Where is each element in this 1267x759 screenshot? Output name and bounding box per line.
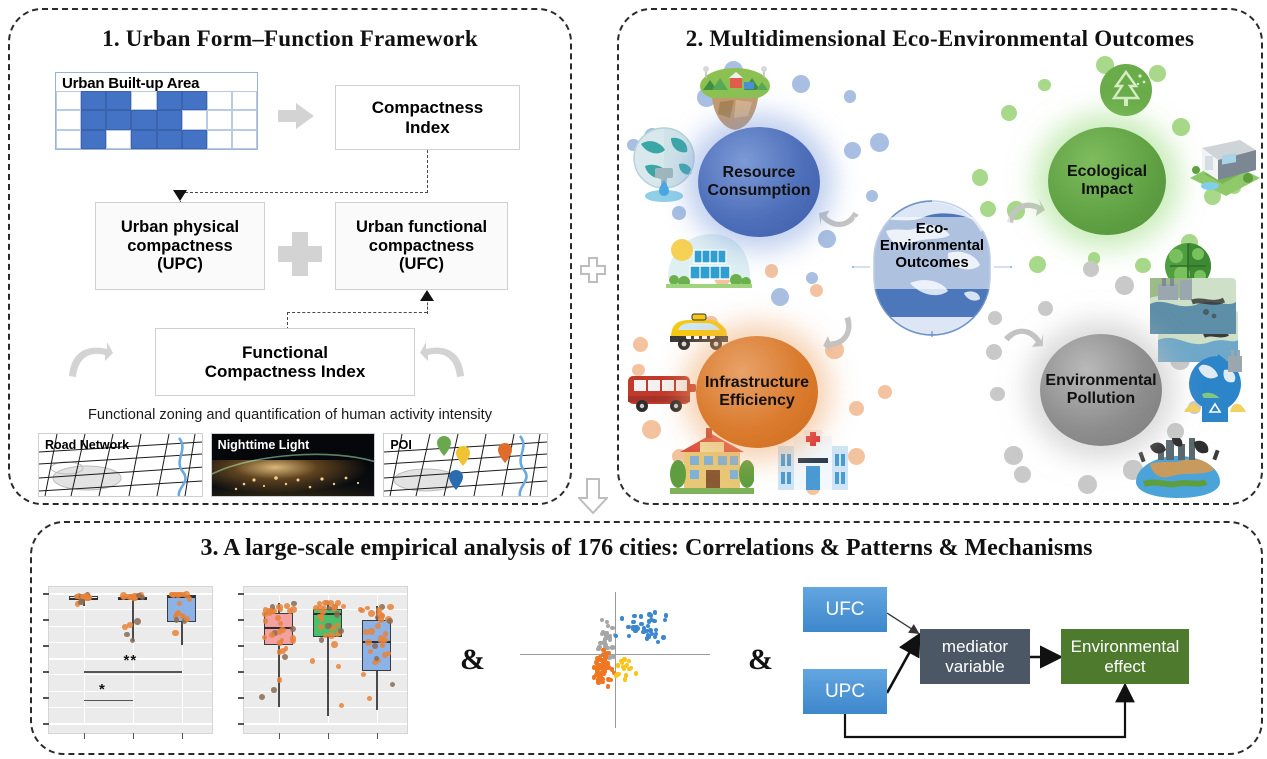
data-point	[327, 623, 332, 628]
bubble-inf-line1: Infrastructure	[705, 374, 809, 391]
data-point	[327, 606, 332, 611]
scatter-point	[639, 614, 643, 618]
data-point	[368, 628, 374, 634]
data-point	[259, 694, 265, 700]
scatter-point	[596, 647, 600, 651]
center-globe-icon: Eco- Environmental Outcomes	[852, 197, 1012, 337]
data-point	[269, 632, 275, 638]
separator-amp-2: &	[748, 643, 773, 677]
center-line2: Environmental	[880, 237, 984, 254]
scatter-point	[610, 626, 614, 630]
bubble-eco-line2: Impact	[1081, 181, 1133, 198]
mediation-node-ufc: UFC	[803, 587, 887, 632]
separator-amp-1: &	[460, 643, 485, 677]
data-point	[268, 608, 274, 614]
axis-tick	[238, 671, 244, 673]
scatter-point	[629, 666, 633, 670]
data-point	[178, 592, 183, 597]
axis-tick	[43, 723, 49, 725]
data-point	[124, 632, 129, 637]
axis-tick	[238, 697, 244, 699]
gridline	[244, 593, 407, 595]
bubble-resource-consumption: Resource Consumption	[698, 127, 820, 237]
data-point	[368, 610, 375, 617]
gridline	[244, 723, 407, 725]
mediation-node-upc: UPC	[803, 669, 887, 714]
gridline	[244, 691, 407, 693]
scatter-point	[603, 656, 607, 660]
data-point	[331, 641, 337, 647]
scatter-point	[614, 634, 618, 638]
data-point	[74, 594, 79, 599]
data-point	[390, 682, 395, 687]
thumbnail-nighttime-light-label: Nighttime Light	[218, 438, 310, 452]
axis-tick-x	[182, 733, 184, 739]
scatter-point	[653, 635, 657, 639]
data-point	[271, 687, 276, 692]
axis-tick	[43, 645, 49, 647]
significance-bracket	[84, 700, 133, 702]
scatter-point	[647, 612, 651, 616]
bubble-environmental-pollution: Environmental Pollution	[1040, 334, 1162, 446]
mediation-node-environmental-effect: Environmental effect	[1061, 629, 1189, 684]
data-point	[134, 618, 141, 625]
data-point	[290, 606, 297, 613]
axis-tick	[43, 697, 49, 699]
gridline	[244, 674, 407, 675]
bubble-ecological-impact: Ecological Impact	[1048, 127, 1166, 235]
axis-tick-x	[84, 733, 86, 739]
scatter-point	[610, 645, 614, 649]
data-point	[365, 606, 370, 611]
data-point	[328, 632, 335, 639]
data-point	[172, 630, 178, 636]
data-point	[387, 604, 393, 610]
scatter-point	[620, 616, 624, 620]
data-point	[140, 595, 145, 600]
mediation-node-mediator: mediator variable	[920, 629, 1030, 684]
data-point	[387, 618, 393, 624]
effect-line2: effect	[1104, 657, 1145, 676]
scatter-point	[611, 654, 615, 658]
scatter-point	[646, 624, 650, 628]
center-line1: Eco-	[916, 220, 949, 237]
center-globe-label: Eco- Environmental Outcomes	[852, 221, 1012, 271]
chart-boxplot-significance: ***	[48, 586, 213, 734]
data-point	[367, 696, 372, 701]
scatter-point	[663, 618, 667, 622]
data-point	[383, 631, 388, 636]
chart-quadrant-scatter	[520, 586, 710, 734]
axis-tick	[43, 593, 49, 595]
scatter-point	[602, 640, 606, 644]
data-point	[310, 658, 315, 663]
data-point	[319, 637, 325, 643]
significance-label: *	[99, 681, 106, 698]
data-point	[177, 601, 182, 606]
significance-bracket	[84, 671, 182, 673]
gridline	[49, 707, 212, 708]
bubble-pol-line1: Environmental	[1045, 372, 1156, 389]
data-point	[358, 607, 363, 612]
data-point	[174, 617, 179, 622]
data-point	[129, 594, 134, 599]
effect-line1: Environmental	[1071, 637, 1180, 656]
scatter-point	[661, 635, 665, 639]
scatter-point	[653, 610, 657, 614]
scatter-point	[616, 663, 620, 667]
scatter-point	[634, 671, 638, 675]
scatter-point	[627, 634, 631, 638]
bubble-res-line2: Consumption	[707, 182, 810, 199]
scatter-point	[649, 618, 653, 622]
scatter-point	[632, 614, 636, 618]
axis-tick	[238, 619, 244, 621]
data-point	[277, 677, 282, 682]
data-point	[277, 640, 283, 646]
axis-tick-x	[328, 733, 330, 739]
scatter-point	[664, 613, 668, 617]
scatter-point	[606, 677, 610, 681]
bubble-inf-line2: Efficiency	[719, 392, 795, 409]
axis-tick	[43, 619, 49, 621]
scatter-point	[608, 637, 612, 641]
data-point	[284, 646, 289, 651]
scatter-point	[624, 673, 628, 677]
data-point	[263, 618, 268, 623]
axis-vertical	[615, 592, 616, 728]
gridline	[49, 691, 212, 693]
axis-tick	[238, 593, 244, 595]
scatter-point	[600, 618, 604, 622]
chart-boxplot-three-groups	[243, 586, 408, 734]
axis-tick	[238, 723, 244, 725]
gridline	[49, 723, 212, 725]
scatter-point	[623, 677, 627, 681]
gridline-vertical	[84, 593, 85, 723]
scatter-point	[631, 620, 635, 624]
scatter-point	[615, 672, 619, 676]
data-point	[78, 599, 84, 605]
scatter-point	[603, 631, 607, 635]
axis-tick-x	[279, 733, 281, 739]
data-point	[335, 600, 341, 606]
scatter-point	[604, 664, 608, 668]
axis-tick	[238, 645, 244, 647]
thumbnail-road-network-label: Road Network	[45, 438, 129, 452]
axis-tick	[43, 671, 49, 673]
data-point	[338, 628, 344, 634]
scatter-point	[656, 640, 660, 644]
data-point	[328, 600, 334, 606]
axis-tick-x	[377, 733, 379, 739]
scatter-point	[597, 676, 601, 680]
bubble-eco-line1: Ecological	[1067, 163, 1147, 180]
data-point	[336, 664, 341, 669]
data-point	[339, 703, 344, 708]
mediator-line1: mediator	[942, 637, 1008, 656]
scatter-point	[606, 684, 610, 688]
data-point	[262, 635, 267, 640]
bubble-pol-line2: Pollution	[1067, 390, 1135, 407]
bubble-infrastructure-efficiency: Infrastructure Efficiency	[696, 336, 818, 448]
scatter-point	[606, 651, 610, 655]
urban-builtup-label: Urban Built-up Area	[62, 75, 199, 92]
significance-label: **	[124, 652, 138, 669]
bubble-res-line1: Resource	[723, 164, 796, 181]
scatter-point	[635, 626, 639, 630]
data-point	[277, 649, 283, 655]
data-point	[284, 603, 290, 609]
center-line3: Outcomes	[895, 254, 968, 271]
data-point	[365, 639, 372, 646]
data-point	[276, 604, 282, 610]
gridline	[244, 707, 407, 708]
graphical-abstract: 1. Urban Form–Function Framework Urban B…	[0, 0, 1267, 759]
scatter-point	[594, 673, 598, 677]
data-point	[290, 635, 296, 641]
scatter-point	[654, 628, 658, 632]
scatter-point	[601, 671, 605, 675]
data-point	[175, 610, 181, 616]
data-point	[277, 629, 283, 635]
data-point	[361, 672, 366, 677]
data-point	[290, 626, 296, 632]
thumbnail-poi-label: POI	[390, 438, 412, 452]
whisker	[132, 595, 134, 641]
mediator-line2: variable	[945, 657, 1005, 676]
data-point	[334, 611, 340, 617]
axis-tick-x	[133, 733, 135, 739]
scatter-point	[639, 622, 643, 626]
data-point	[322, 600, 328, 606]
gridline	[49, 674, 212, 675]
scatter-point	[601, 660, 605, 664]
data-point	[127, 622, 133, 628]
